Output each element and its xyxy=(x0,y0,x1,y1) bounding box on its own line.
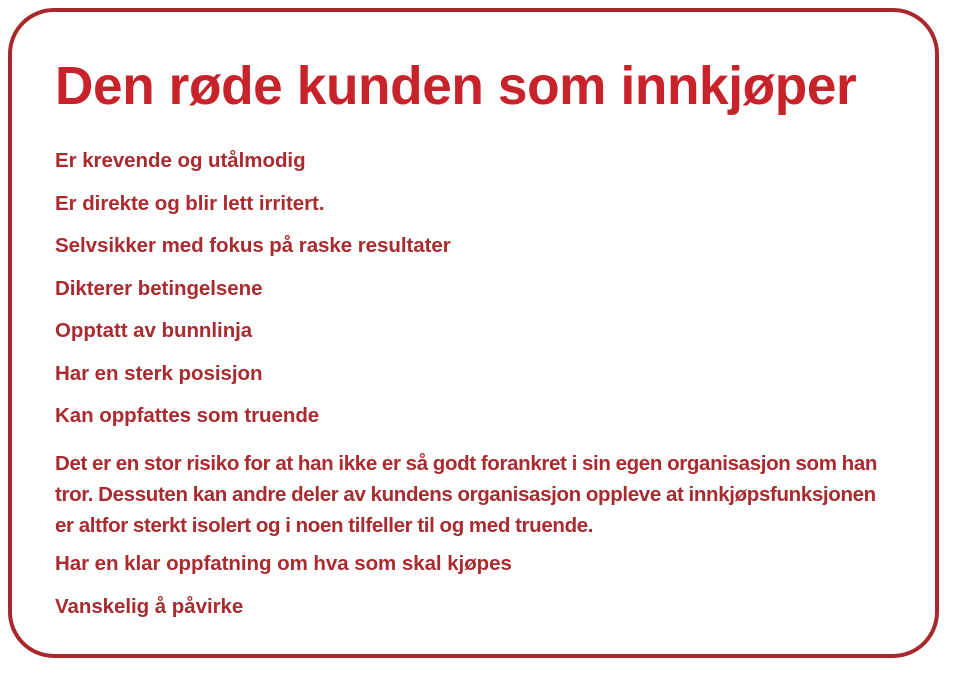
page-title: Den røde kunden som innkjøper xyxy=(55,56,901,116)
list-item: Er direkte og blir lett irritert. xyxy=(55,193,914,215)
list-item: Er krevende og utålmodig xyxy=(55,150,914,172)
slide-canvas: Den røde kunden som innkjøper Er krevend… xyxy=(0,0,960,674)
bullet-list-top: Er krevende og utålmodig Er direkte og b… xyxy=(55,150,914,427)
bullet-list-bottom: Har en klar oppfatning om hva som skal k… xyxy=(55,553,914,618)
list-item: Kan oppfattes som truende xyxy=(55,405,914,427)
list-item: Opptatt av bunnlinja xyxy=(55,320,914,342)
list-item: Vanskelig å påvirke xyxy=(55,596,914,618)
list-item: Dikterer betingelsene xyxy=(55,278,914,300)
list-item: Har en klar oppfatning om hva som skal k… xyxy=(55,553,914,575)
risk-paragraph: Det er en stor risiko for at han ikke er… xyxy=(55,448,885,541)
list-item: Har en sterk posisjon xyxy=(55,363,914,385)
list-item: Selvsikker med fokus på raske resultater xyxy=(55,235,914,257)
slide-content: Den røde kunden som innkjøper Er krevend… xyxy=(55,56,914,654)
